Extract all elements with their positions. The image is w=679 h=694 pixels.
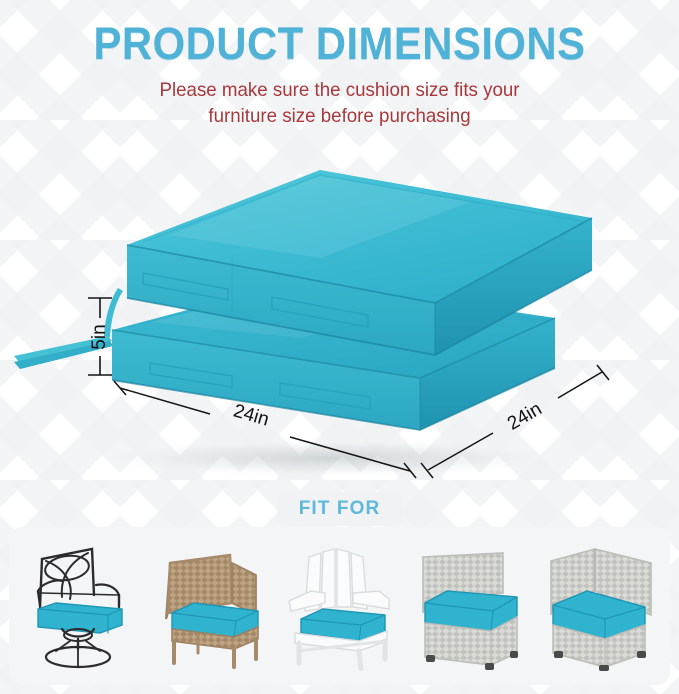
subtitle-line-2: furniture size before purchasing <box>14 104 666 130</box>
dimension-height-label: 5in <box>89 324 110 349</box>
fit-item-gray-wicker-armless-sectional <box>410 538 528 674</box>
dimension-width-right-label: 24in <box>504 399 546 435</box>
header: PRODUCT DIMENSIONS Please make sure the … <box>0 0 679 129</box>
product-shadow <box>80 438 580 478</box>
fit-item-gray-wicker-corner-sectional <box>540 538 658 674</box>
subtitle: Please make sure the cushion size fits y… <box>14 78 666 129</box>
fit-for-panel <box>9 527 670 685</box>
subtitle-line-1: Please make sure the cushion size fits y… <box>14 78 666 104</box>
fit-for-badge: FIT FOR <box>277 492 403 526</box>
fit-item-brown-wicker-arm-chair <box>151 538 269 674</box>
product-illustration: 5in 24in 24in <box>0 140 679 490</box>
fit-item-black-metal-swivel-chair <box>21 538 139 674</box>
page-title: PRODUCT DIMENSIONS <box>24 21 655 66</box>
fit-item-white-adirondack-chair <box>280 538 398 674</box>
fit-for-label: FIT FOR <box>299 498 381 520</box>
product-dimensions-infographic: PRODUCT DIMENSIONS Please make sure the … <box>0 0 679 694</box>
